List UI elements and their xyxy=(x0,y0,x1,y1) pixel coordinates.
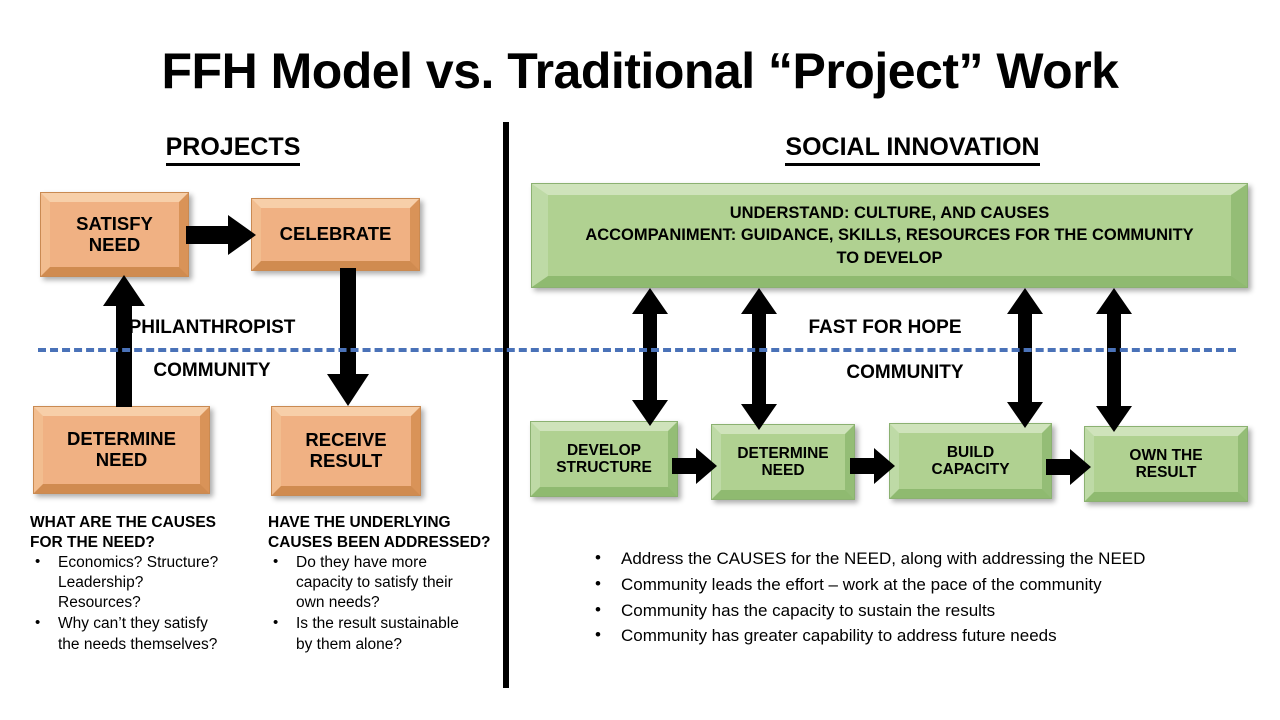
box-celebrate: CELEBRATE xyxy=(251,198,420,271)
list-item: • Do they have more capacity to satisfy … xyxy=(268,553,493,613)
column-header-social-innovation: SOCIAL INNOVATION xyxy=(715,133,1110,166)
arrow-develop-to-determine xyxy=(672,448,717,484)
box-understand-accompaniment: UNDERSTAND: CULTURE, AND CAUSES ACCOMPAN… xyxy=(531,183,1248,288)
box-determine-need-right-label: DETERMINE NEED xyxy=(731,445,834,480)
box-celebrate-label: CELEBRATE xyxy=(274,224,398,245)
list-item: • Community has greater capability to ad… xyxy=(593,623,1233,649)
box-own-the-result: OWN THE RESULT xyxy=(1084,426,1248,502)
column-header-social-innovation-label: SOCIAL INNOVATION xyxy=(785,133,1039,166)
list-item: • Community leads the effort – work at t… xyxy=(593,572,1233,598)
list-item: • Address the CAUSES for the NEED, along… xyxy=(593,546,1233,572)
label-community-right: COMMUNITY xyxy=(755,362,1055,384)
box-satisfy-need-label: SATISFY NEED xyxy=(70,214,159,255)
list-item-text: Is the result sustainable by them alone? xyxy=(296,615,459,652)
list-item-text: Economics? Structure? Leadership? Resour… xyxy=(58,554,218,611)
list-item-text: Community has the capacity to sustain th… xyxy=(621,601,995,620)
label-community-left: COMMUNITY xyxy=(62,360,362,382)
question-block-underlying-list: • Do they have more capacity to satisfy … xyxy=(268,553,493,655)
arrow-banner-build-capacity xyxy=(1007,288,1043,428)
box-satisfy-need: SATISFY NEED xyxy=(40,192,189,277)
arrow-determine-to-satisfy xyxy=(103,275,145,407)
question-block-underlying-title: HAVE THE UNDERLYING CAUSES BEEN ADDRESSE… xyxy=(268,513,493,552)
question-block-causes-list: • Economics? Structure? Leadership? Reso… xyxy=(30,553,262,655)
arrow-determine-to-build xyxy=(850,448,895,484)
vertical-divider xyxy=(503,122,509,688)
question-block-underlying: HAVE THE UNDERLYING CAUSES BEEN ADDRESSE… xyxy=(268,513,493,656)
divider-dashed-line xyxy=(38,348,1236,352)
bullet-icon: • xyxy=(35,613,40,633)
list-item-text: Address the CAUSES for the NEED, along w… xyxy=(621,549,1145,568)
label-fast-for-hope: FAST FOR HOPE xyxy=(735,317,1035,339)
page-title: FFH Model vs. Traditional “Project” Work xyxy=(0,42,1280,100)
box-build-capacity-label: BUILD CAPACITY xyxy=(925,444,1015,479)
list-item-text: Community has greater capability to addr… xyxy=(621,626,1057,645)
list-item: • Why can’t they satisfy the needs thems… xyxy=(30,614,262,654)
label-philanthropist: PHILANTHROPIST xyxy=(62,317,362,339)
right-bullet-list-items: • Address the CAUSES for the NEED, along… xyxy=(593,546,1233,649)
box-determine-need-right: DETERMINE NEED xyxy=(711,424,855,500)
box-receive-result-label: RECEIVE RESULT xyxy=(299,430,392,471)
arrow-banner-own-result xyxy=(1096,288,1132,432)
column-header-projects-label: PROJECTS xyxy=(166,133,301,166)
bullet-icon: • xyxy=(273,613,278,633)
arrow-build-to-own xyxy=(1046,449,1091,485)
box-develop-structure: DEVELOP STRUCTURE xyxy=(530,421,678,497)
box-understand-accompaniment-label: UNDERSTAND: CULTURE, AND CAUSES ACCOMPAN… xyxy=(579,202,1199,269)
list-item: • Community has the capacity to sustain … xyxy=(593,598,1233,624)
box-own-the-result-label: OWN THE RESULT xyxy=(1123,447,1208,482)
column-header-projects: PROJECTS xyxy=(108,133,358,166)
box-develop-structure-label: DEVELOP STRUCTURE xyxy=(550,442,658,477)
arrow-banner-develop-structure xyxy=(632,288,668,426)
bullet-icon: • xyxy=(273,552,278,572)
arrow-satisfy-to-celebrate xyxy=(186,215,256,255)
box-receive-result: RECEIVE RESULT xyxy=(271,406,421,496)
list-item-text: Why can’t they satisfy the needs themsel… xyxy=(58,615,217,652)
box-build-capacity: BUILD CAPACITY xyxy=(889,423,1052,499)
question-block-causes-title: WHAT ARE THE CAUSES FOR THE NEED? xyxy=(30,513,262,552)
box-determine-need-left-label: DETERMINE NEED xyxy=(61,429,182,470)
arrow-banner-determine-need xyxy=(741,288,777,430)
list-item-text: Community leads the effort – work at the… xyxy=(621,575,1102,594)
list-item: • Economics? Structure? Leadership? Reso… xyxy=(30,553,262,613)
list-item-text: Do they have more capacity to satisfy th… xyxy=(296,554,453,611)
slide-canvas: FFH Model vs. Traditional “Project” Work… xyxy=(0,0,1280,720)
bullet-icon: • xyxy=(595,622,601,648)
bullet-icon: • xyxy=(595,545,601,571)
bullet-icon: • xyxy=(35,552,40,572)
bullet-icon: • xyxy=(595,571,601,597)
bullet-icon: • xyxy=(595,597,601,623)
right-bullet-list: • Address the CAUSES for the NEED, along… xyxy=(593,546,1233,649)
question-block-causes: WHAT ARE THE CAUSES FOR THE NEED? • Econ… xyxy=(30,513,262,656)
list-item: • Is the result sustainable by them alon… xyxy=(268,614,493,654)
box-determine-need-left: DETERMINE NEED xyxy=(33,406,210,494)
